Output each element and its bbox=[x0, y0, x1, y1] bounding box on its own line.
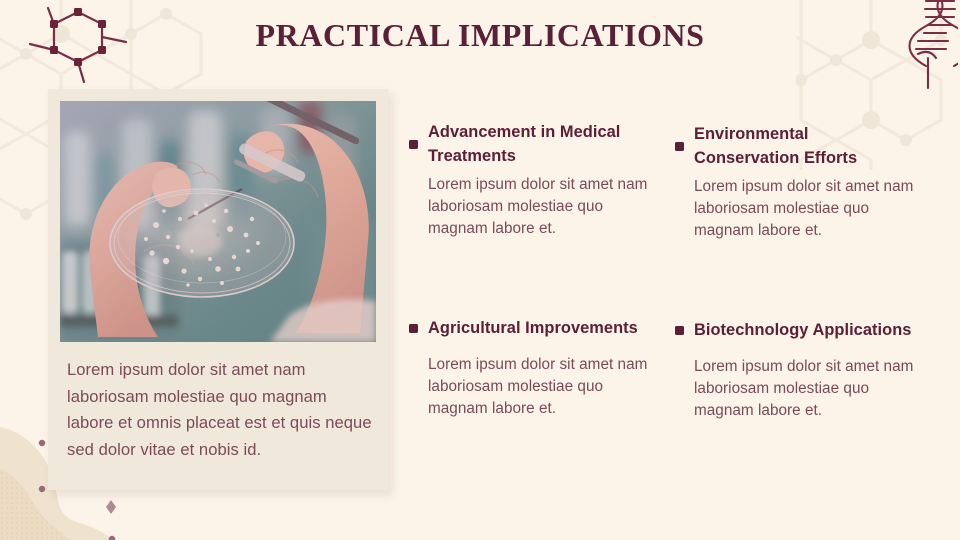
bullet-square-icon bbox=[409, 324, 418, 333]
petri-dish-photo bbox=[60, 101, 376, 342]
slide-root: PRACTICAL IMPLICATIONS bbox=[0, 0, 960, 540]
implications-grid: Advancement in Medical Treatments Lorem … bbox=[405, 120, 925, 460]
bullet-square-icon bbox=[409, 140, 418, 149]
image-caption: Lorem ipsum dolor sit amet nam laboriosa… bbox=[67, 357, 372, 463]
implication-heading-row: Advancement in Medical Treatments bbox=[405, 120, 650, 168]
implication-item[interactable]: Agricultural Improvements Lorem ipsum do… bbox=[405, 308, 650, 420]
implication-heading: Environmental Conservation Efforts bbox=[694, 122, 916, 170]
image-card: Lorem ipsum dolor sit amet nam laboriosa… bbox=[48, 89, 388, 490]
implication-body: Lorem ipsum dolor sit amet nam laboriosa… bbox=[428, 354, 650, 420]
implication-item[interactable]: Advancement in Medical Treatments Lorem … bbox=[405, 120, 650, 240]
implication-body: Lorem ipsum dolor sit amet nam laboriosa… bbox=[694, 176, 916, 242]
implication-body: Lorem ipsum dolor sit amet nam laboriosa… bbox=[428, 174, 650, 240]
bullet-square-icon bbox=[675, 142, 684, 151]
implication-heading-row: Environmental Conservation Efforts bbox=[671, 122, 916, 170]
implication-heading-row: Agricultural Improvements bbox=[405, 308, 650, 348]
page-title: PRACTICAL IMPLICATIONS bbox=[0, 17, 960, 54]
bullet-square-icon bbox=[675, 326, 684, 335]
implication-body: Lorem ipsum dolor sit amet nam laboriosa… bbox=[694, 356, 916, 422]
implication-item[interactable]: Biotechnology Applications Lorem ipsum d… bbox=[671, 310, 916, 422]
implication-heading: Advancement in Medical Treatments bbox=[428, 120, 650, 168]
implication-heading-row: Biotechnology Applications bbox=[671, 310, 916, 350]
implication-item[interactable]: Environmental Conservation Efforts Lorem… bbox=[671, 122, 916, 242]
implication-heading: Agricultural Improvements bbox=[428, 316, 638, 340]
implication-heading: Biotechnology Applications bbox=[694, 318, 911, 342]
